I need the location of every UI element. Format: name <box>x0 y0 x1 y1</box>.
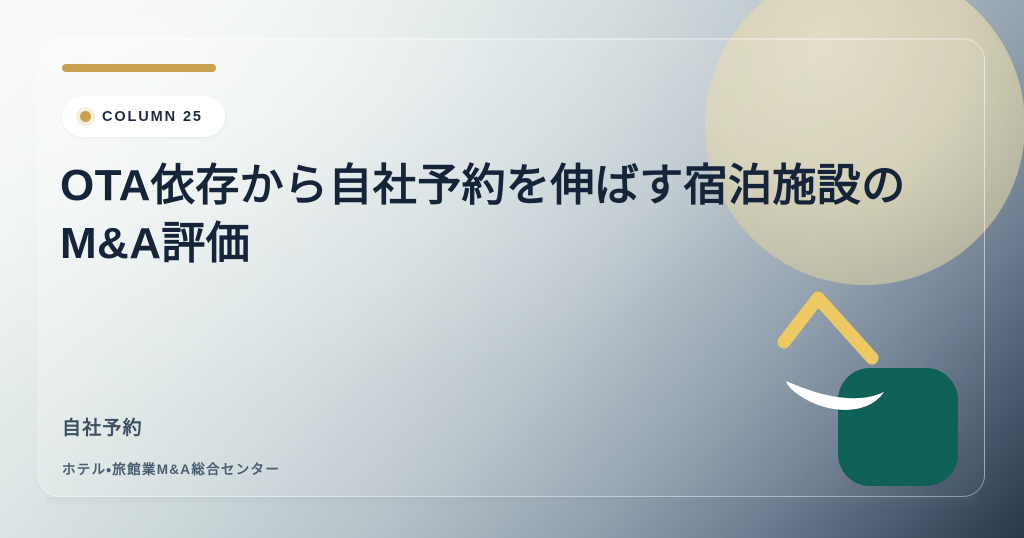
badge-dot-icon <box>80 111 91 122</box>
brand-logo-svg <box>772 280 972 495</box>
page-title: OTA依存から自社予約を伸ばす宿泊施設のM&A評価 <box>60 157 940 273</box>
badge-label: COLUMN 25 <box>102 109 203 125</box>
roof-chevron-icon <box>784 298 872 358</box>
brand-logo-mark <box>772 280 972 495</box>
card-footer: 自社予約 ホテル・旅館業M&A総合センター <box>62 413 280 478</box>
column-badge: COLUMN 25 <box>62 96 225 137</box>
footer-category-label: 自社予約 <box>62 413 280 440</box>
teal-square-icon <box>838 368 958 486</box>
column-card-canvas: COLUMN 25 OTA依存から自社予約を伸ばす宿泊施設のM&A評価 自社予約… <box>0 0 1024 538</box>
card-bottom-shadow <box>46 497 978 507</box>
footer-brand-label: ホテル・旅館業M&A総合センター <box>62 458 280 478</box>
gold-accent-bar <box>62 64 216 72</box>
